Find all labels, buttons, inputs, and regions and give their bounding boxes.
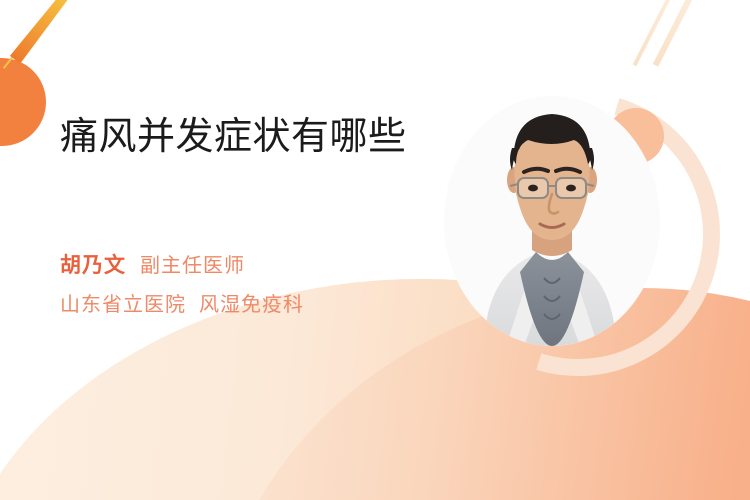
top-right-slash-decoration-b — [653, 0, 697, 67]
yellow-thin-stripe-decoration — [3, 0, 61, 69]
orange-gradient-stripe-decoration — [10, 0, 79, 64]
bottom-right-blob-decoration — [450, 320, 750, 500]
department-name: 风湿免疫科 — [199, 288, 304, 317]
outlined-slash-decoration — [149, 360, 175, 408]
affiliation-row: 山东省立医院 风湿免疫科 — [60, 288, 304, 317]
doctor-rank: 副主任医师 — [140, 249, 245, 278]
doctor-portrait — [444, 96, 660, 346]
portrait-yellow-stripes-decoration — [444, 262, 660, 346]
doctor-name: 胡乃文 — [60, 249, 126, 279]
page-title: 痛风并发症状有哪些 — [60, 118, 410, 157]
hospital-name: 山东省立医院 — [60, 288, 186, 317]
doctor-info-card: 痛风并发症状有哪些 胡乃文 副主任医师 山东省立医院 风湿免疫科 — [0, 0, 750, 500]
top-right-slash-decoration-a — [633, 0, 676, 66]
orange-circle-decoration — [0, 58, 46, 146]
doctor-name-row: 胡乃文 副主任医师 — [60, 249, 245, 279]
